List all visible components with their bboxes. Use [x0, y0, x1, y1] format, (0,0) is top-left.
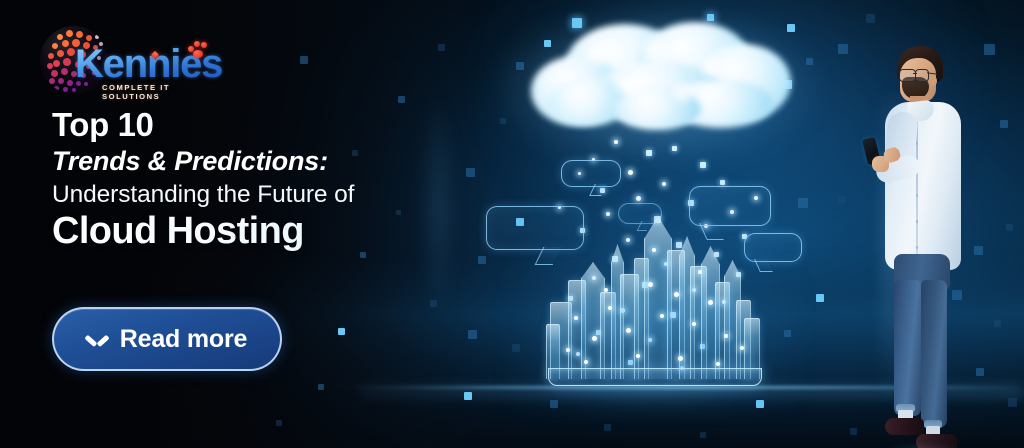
shirt-button	[916, 194, 919, 197]
glasses-lens-left	[899, 69, 916, 82]
shoe-right	[916, 434, 957, 448]
leg-left	[894, 280, 921, 416]
shoe-left	[885, 418, 924, 435]
paw-print-icon	[188, 40, 210, 60]
chevron-down-icon	[87, 333, 107, 345]
man-using-smartphone-photo	[864, 46, 994, 448]
read-more-button[interactable]: Read more	[52, 307, 282, 371]
leg-right	[921, 280, 947, 428]
ear	[930, 76, 937, 86]
headline-line-1: Top 10	[52, 108, 482, 142]
shirt-button	[916, 220, 919, 223]
headline-line-2: Trends & Predictions:	[52, 148, 482, 176]
headline-line-4: Cloud Hosting	[52, 212, 482, 251]
brand-tagline: COMPLETE IT SOLUTIONS	[102, 83, 220, 101]
holographic-city-icon	[548, 196, 760, 386]
headline-line-3: Understanding the Future of	[52, 182, 482, 207]
kennies-logo[interactable]: Kennies COMPLETE IT SOLUTIONS	[40, 22, 220, 108]
glasses-bridge	[913, 73, 917, 74]
read-more-label: Read more	[120, 325, 247, 354]
shirt-button	[916, 246, 919, 249]
glasses-lens-right	[915, 69, 929, 82]
city-base-platform	[548, 368, 762, 386]
cloud-hosting-promo-banner: Kennies COMPLETE IT SOLUTIONS Top 10 Tre…	[0, 0, 1024, 448]
cloud-icon	[527, 22, 795, 142]
headline-block: Top 10 Trends & Predictions: Understandi…	[52, 108, 482, 251]
